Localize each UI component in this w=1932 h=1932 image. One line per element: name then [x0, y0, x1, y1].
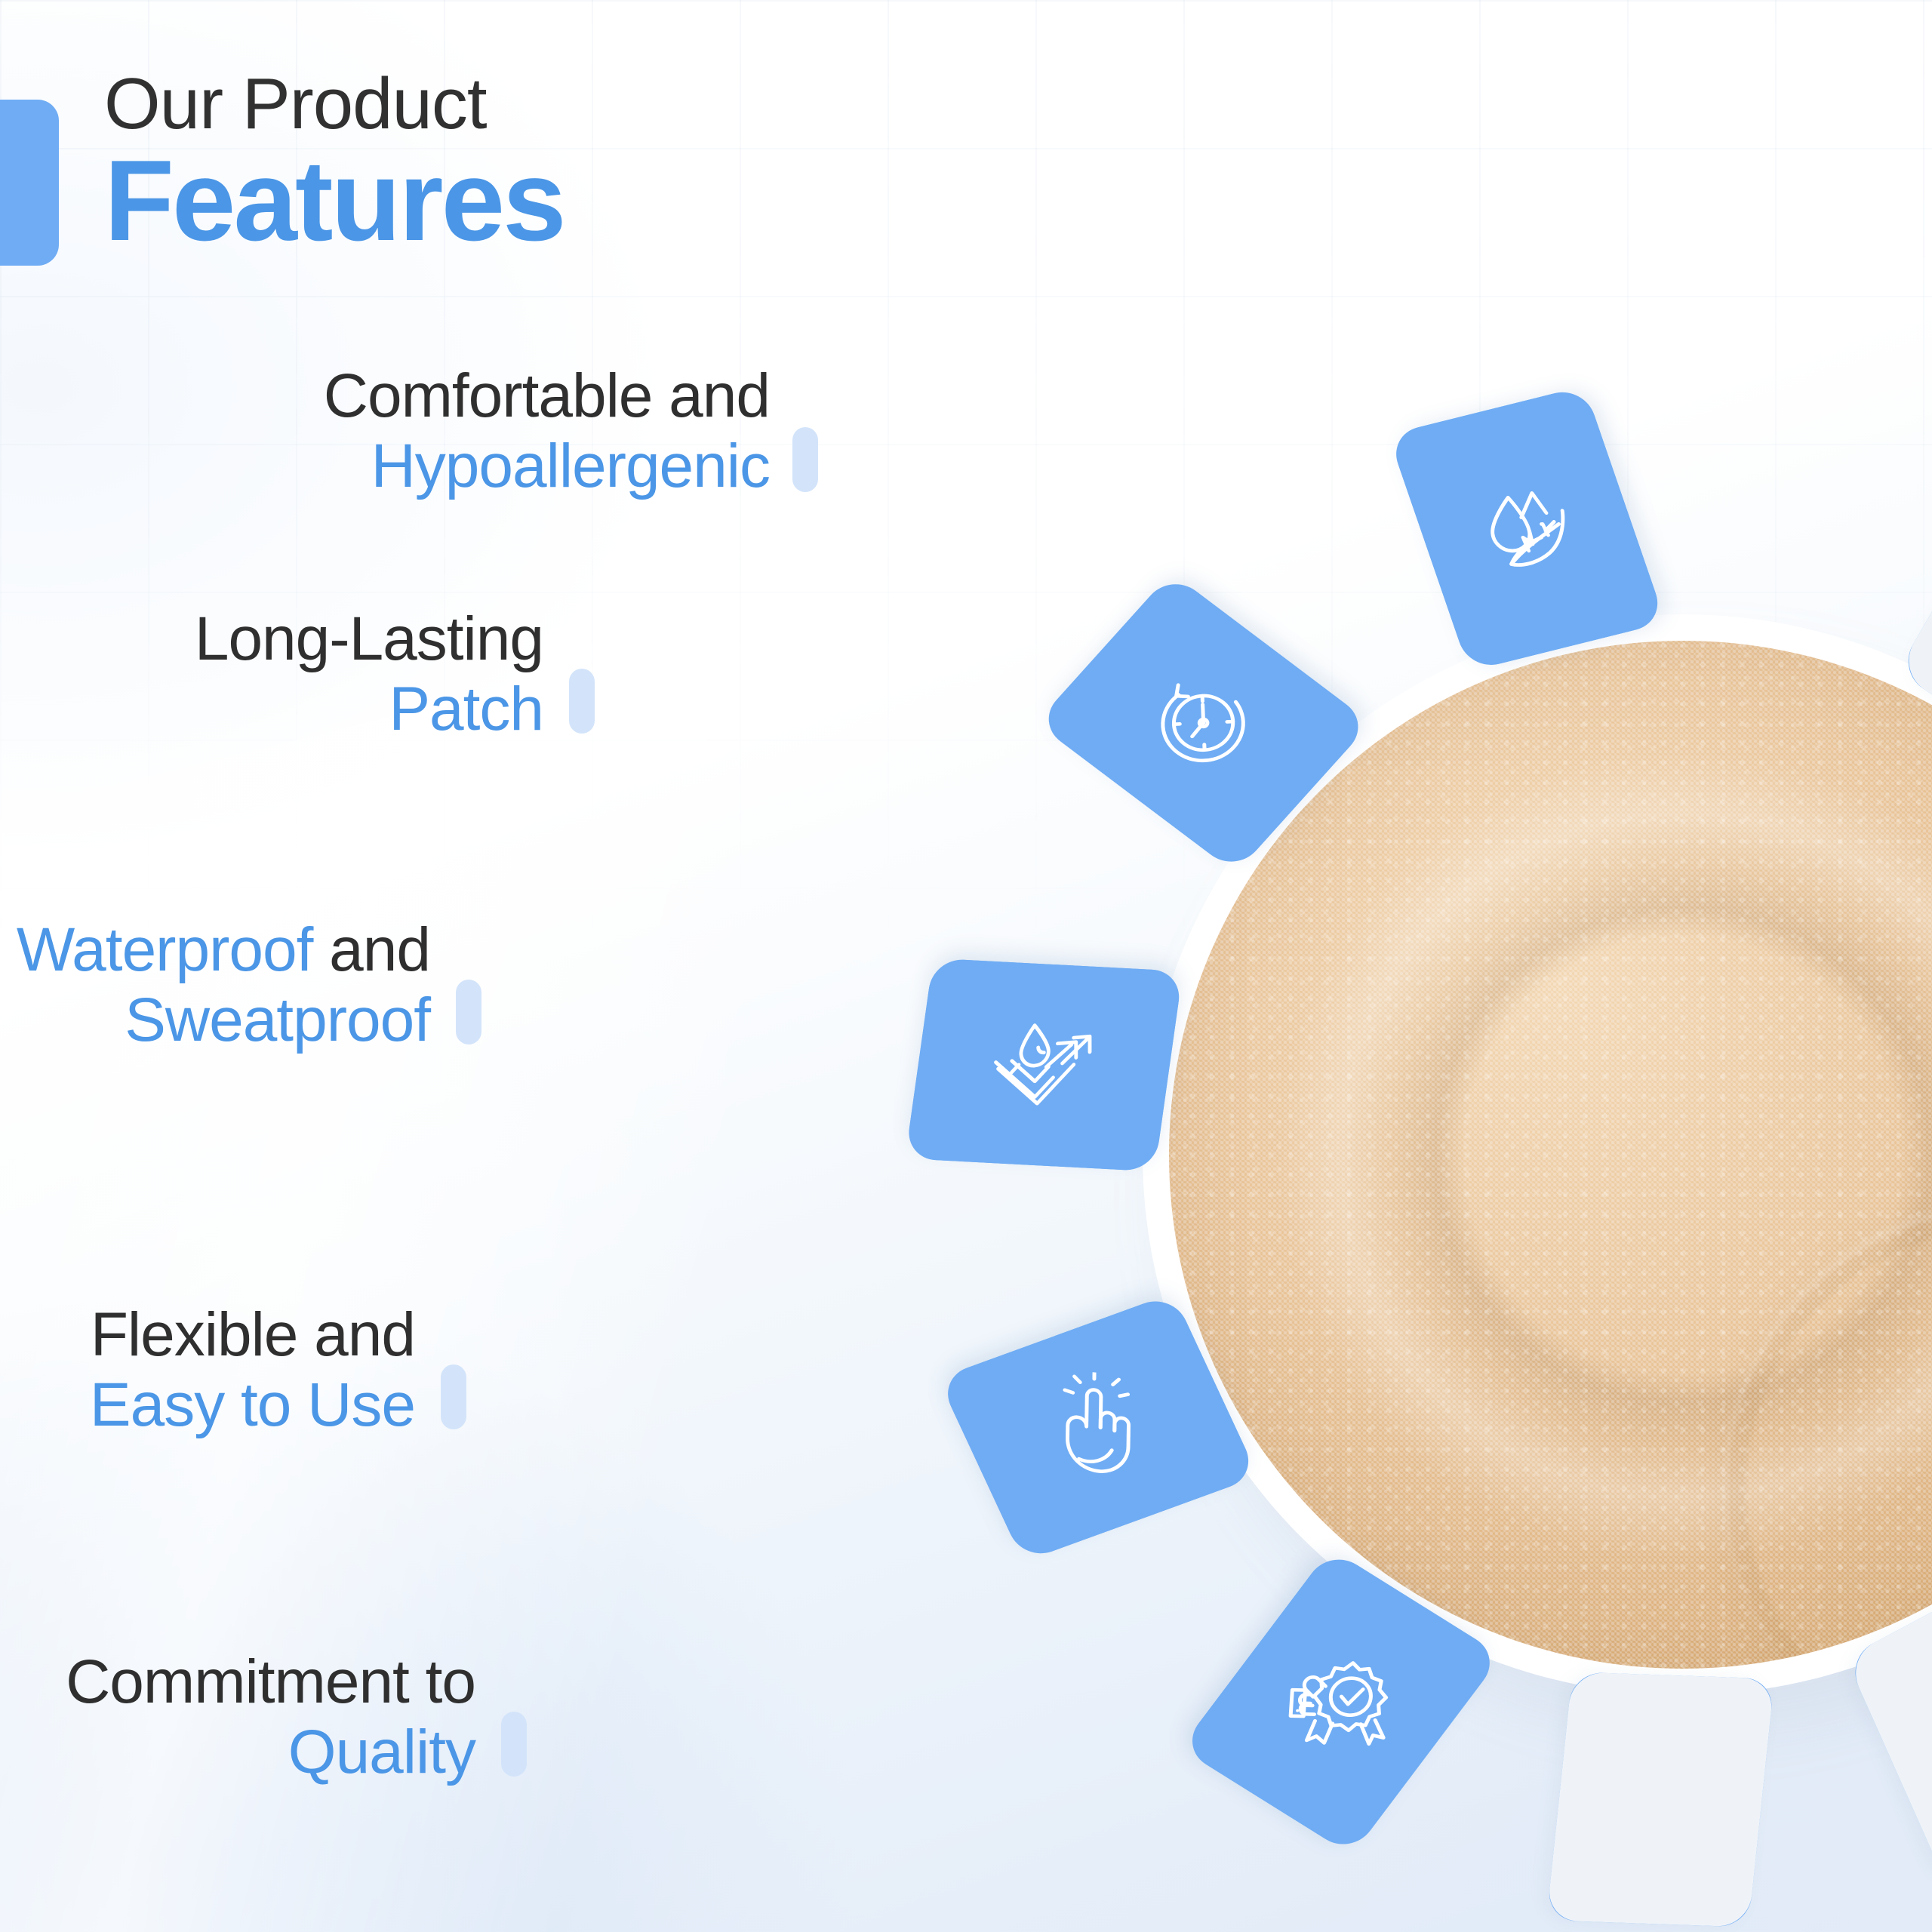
label-line-2: Patch	[195, 674, 543, 744]
clock-duration-icon	[1142, 666, 1264, 780]
feature-label-long-lasting: Long-Lasting Patch	[195, 604, 543, 745]
label-line-1-blue: Waterproof	[17, 915, 313, 984]
label-line-1: Waterproof and	[17, 915, 430, 985]
header-accent-bar	[0, 100, 59, 266]
droplet-feather-icon	[1464, 473, 1589, 585]
water-repellent-icon	[986, 1004, 1101, 1125]
product-inner-emboss	[1727, 1208, 1932, 1669]
label-marker-pill	[792, 427, 818, 492]
infographic-canvas: Our Product Features	[0, 0, 1932, 1932]
label-line-1: Comfortable and	[324, 361, 770, 431]
page-title: Features	[104, 145, 565, 257]
page-header: Our Product Features	[0, 100, 565, 266]
feature-wheel	[853, 325, 1932, 1932]
label-line-1: Long-Lasting	[195, 604, 543, 674]
feature-label-quality: Commitment to Quality	[66, 1647, 475, 1788]
header-text-block: Our Product Features	[104, 68, 565, 257]
header-kicker: Our Product	[104, 68, 565, 140]
feature-label-waterproof: Waterproof and Sweatproof	[17, 915, 430, 1056]
label-marker-pill	[569, 669, 595, 734]
label-marker-pill	[456, 980, 481, 1044]
label-line-2: Hypoallergenic	[324, 431, 770, 501]
label-line-1: Commitment to	[66, 1647, 475, 1717]
label-line-1-dark: and	[312, 915, 430, 984]
label-line-2: Easy to Use	[90, 1370, 415, 1440]
feature-label-hypoallergenic: Comfortable and Hypoallergenic	[324, 361, 770, 502]
tap-hand-icon	[1038, 1368, 1157, 1486]
label-line-1: Flexible and	[90, 1300, 415, 1370]
quality-badge-icon	[1278, 1646, 1403, 1758]
label-marker-pill	[501, 1712, 527, 1777]
label-marker-pill	[441, 1364, 466, 1429]
label-line-2: Quality	[66, 1717, 475, 1787]
feature-label-easy-to-use: Flexible and Easy to Use	[90, 1300, 415, 1441]
label-line-2: Sweatproof	[17, 985, 430, 1055]
